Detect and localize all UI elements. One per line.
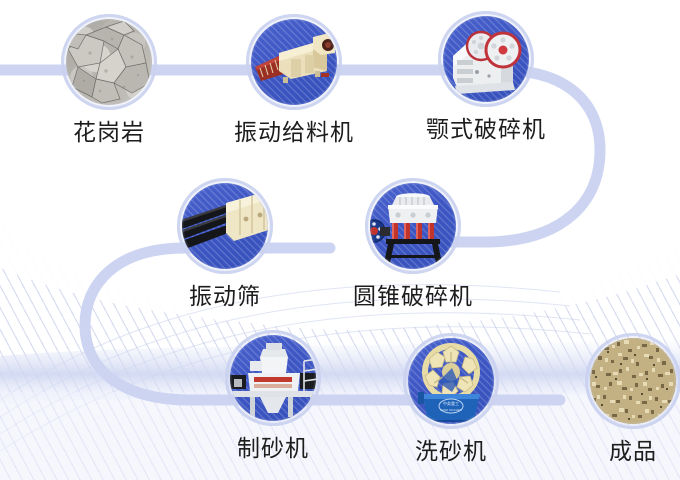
sand-washer-ring <box>403 333 499 429</box>
cone-crusher-disc <box>365 178 461 274</box>
node-label-vibrating-feeder: 振动给料机 <box>219 119 369 147</box>
node-finished-product[interactable]: 成品 <box>558 333 680 466</box>
node-granite[interactable]: 花岗岩 <box>34 14 184 147</box>
finished-product-disc <box>585 333 680 429</box>
sand-washer-disc: 中矣重工 SAND WASHER <box>403 333 499 429</box>
node-cone-crusher[interactable]: 圆锥破碎机 <box>338 178 488 311</box>
node-label-sand-washer: 洗砂机 <box>376 438 526 466</box>
node-label-cone-crusher: 圆锥破碎机 <box>338 283 488 311</box>
jaw-crusher-ring <box>438 11 534 107</box>
sand-maker-disc <box>225 330 321 426</box>
node-label-sand-maker: 制砂机 <box>198 435 348 463</box>
node-sand-washer[interactable]: 中矣重工 SAND WASHER 洗砂机 <box>376 333 526 466</box>
finished-product-ring <box>585 333 680 429</box>
node-vibrating-screen[interactable]: 振动筛 <box>150 178 300 311</box>
node-label-granite: 花岗岩 <box>34 119 184 147</box>
cone-crusher-ring <box>365 178 461 274</box>
node-label-vibrating-screen: 振动筛 <box>150 283 300 311</box>
node-vibrating-feeder[interactable]: 振动给料机 <box>219 14 369 147</box>
jaw-crusher-disc <box>438 11 534 107</box>
vibrating-feeder-ring <box>246 14 342 110</box>
node-sand-maker[interactable]: 制砂机 <box>198 330 348 463</box>
node-jaw-crusher[interactable]: 颚式破碎机 <box>411 11 561 144</box>
granite-ring <box>61 14 157 110</box>
node-label-jaw-crusher: 颚式破碎机 <box>411 116 561 144</box>
node-label-finished-product: 成品 <box>558 438 680 466</box>
sand-maker-ring <box>225 330 321 426</box>
vibrating-screen-ring <box>177 178 273 274</box>
vibrating-feeder-disc <box>246 14 342 110</box>
flow-diagram-canvas: 花岗岩 <box>0 0 680 480</box>
vibrating-screen-disc <box>177 178 273 274</box>
granite-disc <box>61 14 157 110</box>
